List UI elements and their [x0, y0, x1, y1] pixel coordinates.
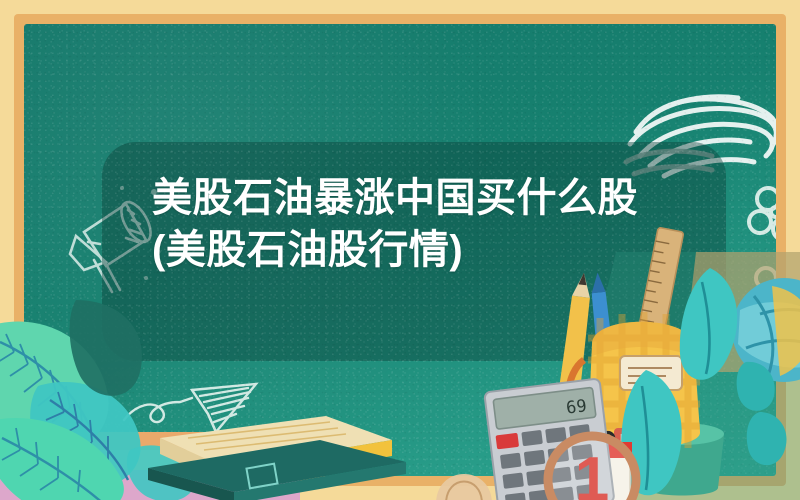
calculator-display: 69: [565, 396, 588, 418]
school-supplies-cluster: 69 1: [496, 252, 800, 500]
flower-chalk-icon: [746, 184, 776, 246]
book-stack: [130, 412, 450, 500]
title-line-2: (美股石油股行情): [152, 224, 712, 276]
cover-image: 美股石油暴涨中国买什么股 (美股石油股行情): [0, 0, 800, 500]
title-line-1: 美股石油暴涨中国买什么股: [152, 172, 712, 224]
page-title: 美股石油暴涨中国买什么股 (美股石油股行情): [152, 172, 712, 276]
